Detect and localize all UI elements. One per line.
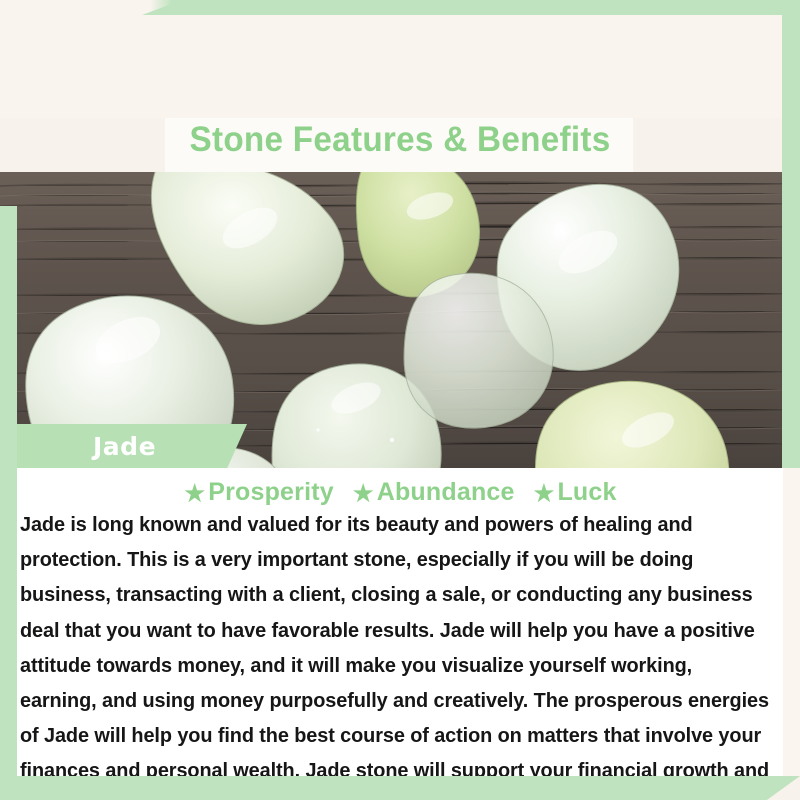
star-icon: ★ (184, 480, 205, 506)
decor-right-strip (782, 0, 800, 468)
decor-left-strip (0, 206, 17, 800)
stone-description: Jade is long known and valued for its be… (20, 508, 773, 800)
stone-benefits-poster: BUDDHA STONES Stone Features & Benefits (0, 0, 800, 800)
star-icon: ★ (534, 480, 555, 506)
decor-bottom-band (0, 776, 800, 800)
header-background (0, 0, 800, 118)
keyword-row: ★Prosperity★Abundance★Luck (0, 478, 800, 507)
stone-photo (0, 172, 800, 468)
star-icon: ★ (353, 480, 374, 506)
page-title: Stone Features & Benefits (20, 120, 780, 160)
keyword-prosperity: Prosperity (208, 478, 334, 506)
keyword-luck: Luck (557, 478, 616, 506)
stone-name-label: Jade (93, 432, 156, 461)
keyword-abundance: Abundance (377, 478, 515, 506)
